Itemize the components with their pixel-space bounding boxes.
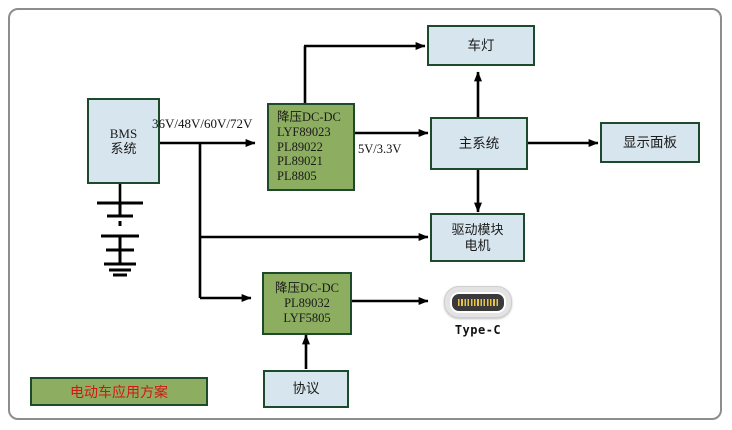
typec-pins [458, 299, 498, 306]
node-dcdc-main-line1: 降压DC-DC [277, 110, 341, 125]
node-bms[interactable]: BMS 系统 [87, 98, 160, 184]
diagram-frame [8, 8, 722, 420]
node-dcdc-main-line5: PL8805 [277, 169, 317, 184]
node-drive-module-line1: 驱动模块 [451, 222, 503, 237]
node-dcdc-main[interactable]: 降压DC-DC LYF89023 PL89022 PL89021 PL8805 [267, 103, 355, 191]
node-bms-line2: 系统 [110, 141, 136, 156]
node-bms-line1: BMS [110, 126, 137, 141]
typec-port-icon [450, 292, 506, 313]
node-display-panel-label: 显示面板 [623, 135, 677, 151]
node-main-system-label: 主系统 [459, 136, 500, 152]
node-drive-module[interactable]: 驱动模块 电机 [430, 213, 525, 262]
node-headlight-label: 车灯 [468, 38, 495, 54]
diagram-canvas: BMS 系统 降压DC-DC LYF89023 PL89022 PL89021 … [0, 0, 732, 430]
application-tag: 电动车应用方案 [30, 377, 208, 406]
node-protocol-label: 协议 [293, 381, 320, 397]
node-dcdc-main-line3: PL89022 [277, 140, 323, 155]
node-dcdc-typec-line3: LYF5805 [283, 311, 330, 326]
node-dcdc-typec-line1: 降压DC-DC [275, 281, 339, 296]
node-main-system[interactable]: 主系统 [430, 117, 528, 170]
node-dcdc-typec[interactable]: 降压DC-DC PL89032 LYF5805 [262, 272, 352, 335]
application-tag-label: 电动车应用方案 [70, 382, 168, 402]
node-dcdc-typec-line2: PL89032 [284, 296, 330, 311]
typec-shell [444, 286, 512, 318]
node-dcdc-main-line4: PL89021 [277, 154, 323, 169]
node-display-panel[interactable]: 显示面板 [600, 122, 700, 163]
label-logic-voltage: 5V/3.3V [358, 142, 401, 157]
label-battery-voltage: 36V/48V/60V/72V [152, 116, 252, 132]
typec-connector[interactable]: Type-C [444, 286, 512, 337]
node-drive-module-line2: 电机 [464, 238, 490, 253]
node-dcdc-main-line2: LYF89023 [277, 125, 331, 140]
node-protocol[interactable]: 协议 [263, 370, 349, 408]
node-headlight[interactable]: 车灯 [427, 25, 535, 66]
typec-caption: Type-C [455, 323, 501, 337]
